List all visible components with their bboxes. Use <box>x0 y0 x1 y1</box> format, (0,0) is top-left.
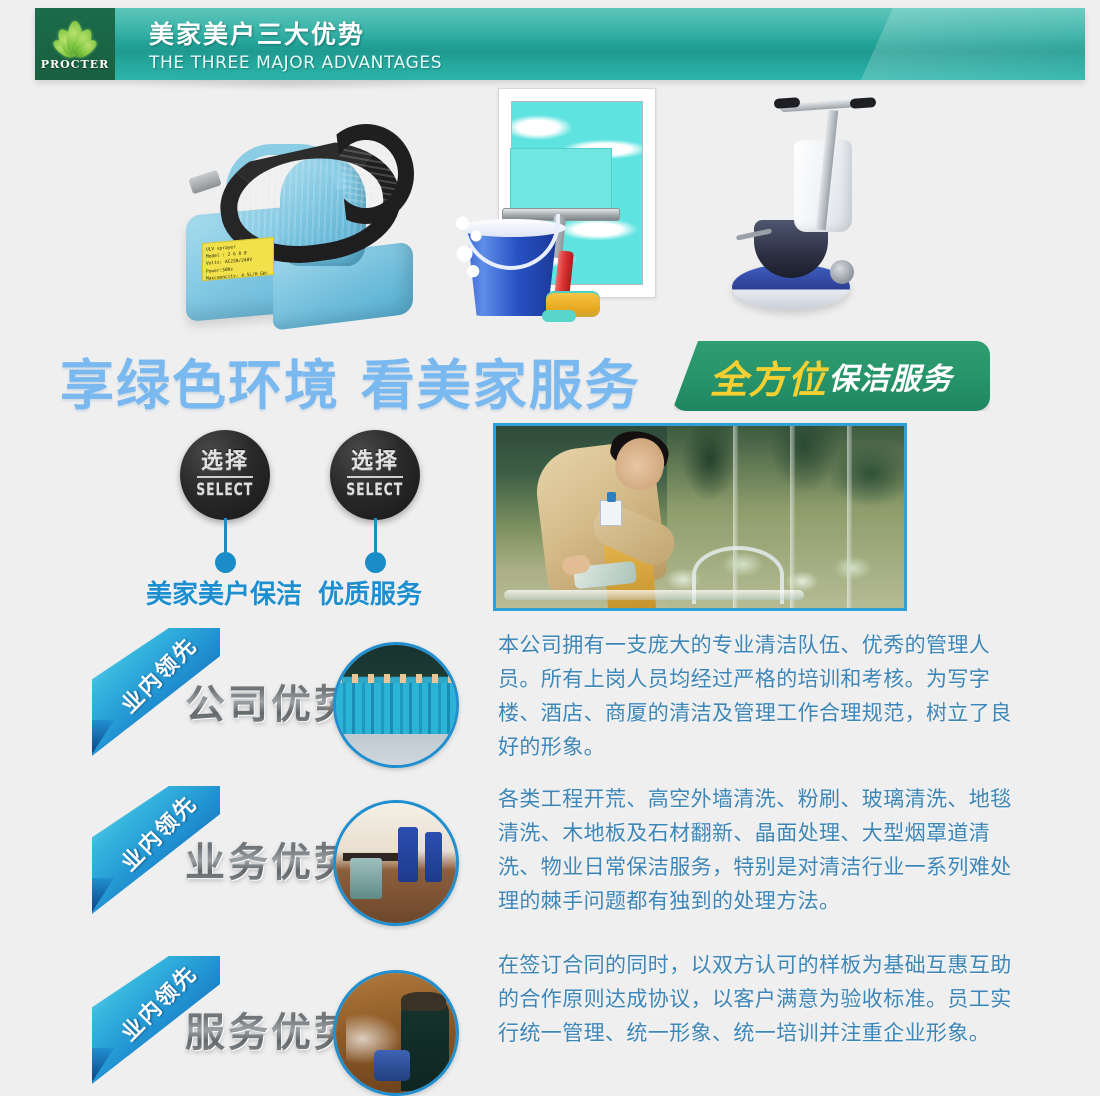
select-badge-circle: 选择 SELECT <box>330 430 420 520</box>
header-title-en: THE THREE MAJOR ADVANTAGES <box>149 53 1085 73</box>
logo-wordmark: PROCTER <box>41 58 109 71</box>
sprayer-spec-label: ULV sprayer Model : 2 6 8 0 Volts: AC220… <box>202 237 274 281</box>
advantage-photo-interior <box>333 800 459 926</box>
advantage-title: 服务优势 <box>185 1000 357 1058</box>
select-badge-circle: 选择 SELECT <box>180 430 270 520</box>
select-badge-en: SELECT <box>197 480 254 500</box>
pin-label-1: 美家美户保洁 <box>146 574 302 611</box>
select-pin-1: 选择 SELECT <box>180 430 270 520</box>
header-banner: 美家美户三大优势 THE THREE MAJOR ADVANTAGES <box>115 8 1085 80</box>
pin-label-2: 优质服务 <box>318 574 422 611</box>
advantage-photo-spray <box>333 970 459 1096</box>
full-service-badge: 全方位 保洁服务 <box>672 341 990 411</box>
advantage-description: 在签订合同的同时，以双方认可的样板为基础互惠互助的合作原则达成协议，以客户满意为… <box>498 948 1018 1050</box>
select-pin-2: 选择 SELECT <box>330 430 420 520</box>
main-headline: 享绿色环境 看美家服务 <box>60 341 641 420</box>
header-title-cn: 美家美户三大优势 <box>149 15 1085 51</box>
badge-highlight-text: 全方位 <box>709 349 826 404</box>
window-cleaning-image <box>450 86 680 336</box>
advantage-title: 业务优势 <box>185 830 357 888</box>
pin-dot <box>215 552 236 573</box>
select-badge-divider <box>347 476 403 478</box>
page-header: PROCTER 美家美户三大优势 THE THREE MAJOR ADVANTA… <box>35 8 1085 80</box>
advantage-title: 公司优势 <box>185 672 357 730</box>
leaf-crown-icon <box>42 17 108 57</box>
advantage-description: 各类工程开荒、高空外墙清洗、粉刷、玻璃清洗、地毯清洗、木地板及石材翻新、晶面处理… <box>498 782 1018 918</box>
select-badge-divider <box>197 476 253 478</box>
company-logo: PROCTER <box>35 8 115 80</box>
badge-text: 保洁服务 <box>829 354 953 398</box>
pin-dot <box>365 552 386 573</box>
advertisement-page: PROCTER 美家美户三大优势 THE THREE MAJOR ADVANTA… <box>0 0 1100 1096</box>
product-image-row: ULV sprayer Model : 2 6 8 0 Volts: AC220… <box>0 86 1100 341</box>
hero-photo <box>493 423 907 611</box>
ulv-sprayer-image: ULV sprayer Model : 2 6 8 0 Volts: AC220… <box>168 100 418 330</box>
select-badge-en: SELECT <box>347 480 404 500</box>
advantage-photo-team <box>333 642 459 768</box>
select-badge-cn: 选择 <box>201 450 249 473</box>
advantage-description: 本公司拥有一支庞大的专业清洁队伍、优秀的管理人员。所有上岗人员均经过严格的培训和… <box>498 628 1018 764</box>
floor-polisher-image <box>718 92 938 332</box>
select-badge-cn: 选择 <box>351 450 399 473</box>
